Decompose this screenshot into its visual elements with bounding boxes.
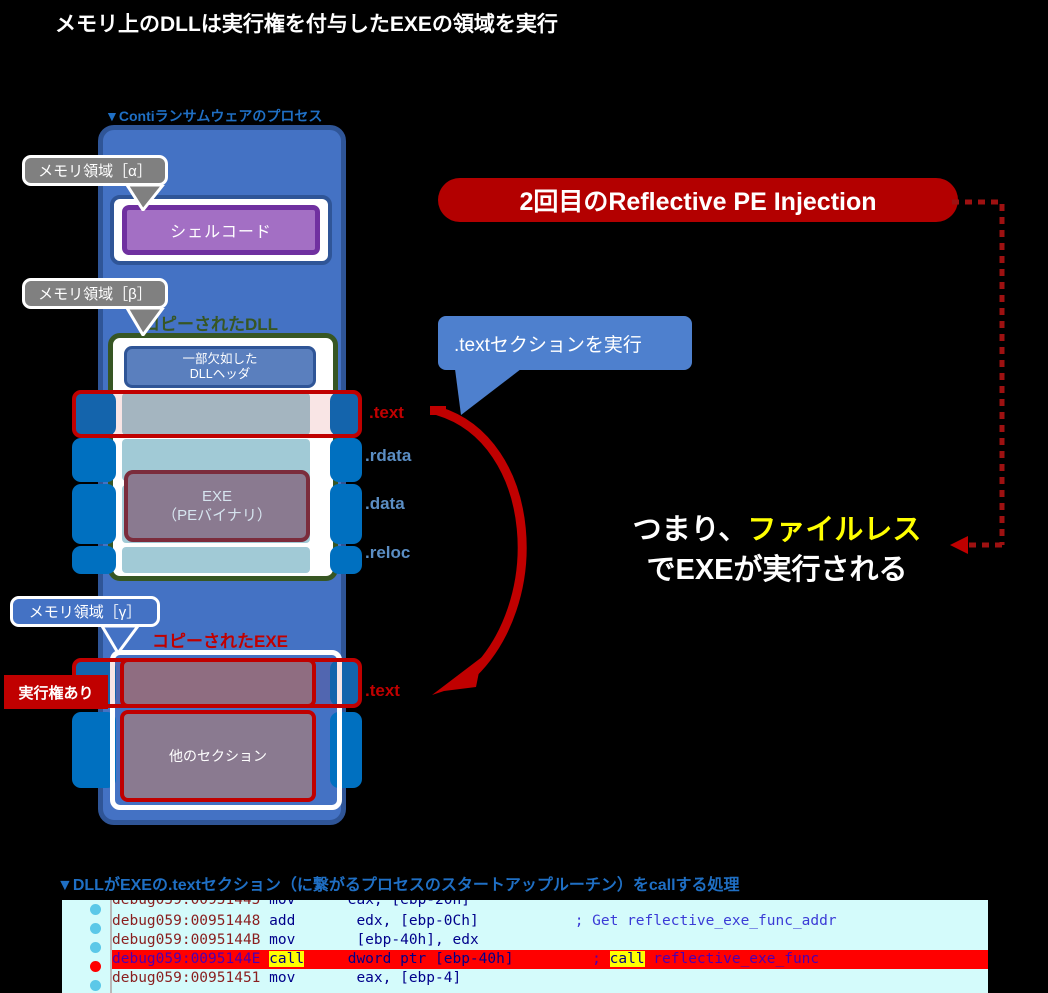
dll-section-label-rdata: .rdata bbox=[365, 446, 411, 466]
dll-section-tab-reloc-right bbox=[330, 546, 362, 574]
execution-flow-arrow bbox=[420, 395, 550, 715]
dll-header-line2: DLLヘッダ bbox=[190, 367, 250, 382]
code-comment: reflective_exe_func bbox=[645, 951, 820, 967]
conclusion-text: つまり、ファイルレス でEXEが実行される bbox=[612, 510, 942, 590]
callout-memory-beta: メモリ領域［β］ bbox=[22, 278, 168, 309]
code-operands: eax, [ebp-20h] bbox=[348, 900, 470, 908]
text-section-exec-bubble: .textセクションを実行 bbox=[438, 316, 692, 370]
shellcode-block: シェルコード bbox=[122, 205, 320, 255]
breakpoint-marker-4[interactable] bbox=[90, 980, 101, 991]
dll-section-tab-rdata-right bbox=[330, 438, 362, 482]
dll-header-line1: 一部欠如した bbox=[182, 352, 257, 367]
code-operands: dword ptr [ebp-40h] bbox=[348, 951, 514, 967]
dll-section-tab-data-left bbox=[72, 484, 116, 544]
code-mnemonic: mov bbox=[269, 932, 295, 948]
breakpoint-gutter[interactable] bbox=[62, 900, 112, 993]
process-caption: ▼Contiランサムウェアのプロセス bbox=[105, 106, 322, 126]
code-mnemonic: mov bbox=[269, 900, 295, 908]
dll-section-label-text: .text bbox=[369, 403, 404, 423]
exe-text-highlight bbox=[72, 658, 362, 708]
code-addr: debug059:00951451 bbox=[112, 970, 260, 986]
page-title: メモリ上のDLLは実行権を付与したEXEの領域を実行 bbox=[55, 8, 558, 38]
disassembly-panel[interactable]: debug059:00951445 mov eax, [ebp-20h] deb… bbox=[62, 900, 988, 993]
breakpoint-marker-1[interactable] bbox=[90, 923, 101, 934]
exec-permission-badge: 実行権あり bbox=[4, 675, 108, 709]
exe-section-label-text: .text bbox=[365, 681, 400, 701]
dll-section-tab-rdata-left bbox=[72, 438, 116, 482]
exe-pe-binary-block: EXE （PEバイナリ） bbox=[124, 470, 310, 542]
code-line[interactable]: debug059:00951445 mov eax, [ebp-20h] bbox=[112, 900, 988, 910]
code-line[interactable]: debug059:00951451 mov eax, [ebp-4] bbox=[112, 969, 988, 988]
code-comment-keyword: call bbox=[610, 951, 645, 967]
code-mnemonic: mov bbox=[269, 970, 295, 986]
dll-section-tab-data-right bbox=[330, 484, 362, 544]
dotted-flow-connector bbox=[950, 190, 1048, 570]
exe-pe-line2: （PEバイナリ） bbox=[162, 506, 272, 525]
callout-gamma-tail bbox=[100, 626, 140, 654]
code-mnemonic: call bbox=[269, 951, 304, 967]
code-line[interactable]: debug059:0095144B mov [ebp-40h], edx bbox=[112, 931, 988, 950]
conclusion-line2: でEXEが実行される bbox=[646, 554, 907, 586]
dll-text-highlight bbox=[72, 390, 362, 438]
code-operands: eax, [ebp-4] bbox=[356, 970, 461, 986]
code-addr: debug059:0095144B bbox=[112, 932, 260, 948]
code-comment: ; Get reflective_exe_func_addr bbox=[575, 913, 837, 929]
dll-section-label-reloc: .reloc bbox=[365, 543, 410, 563]
callout-memory-gamma: メモリ領域［γ］ bbox=[10, 596, 160, 627]
code-operands: [ebp-40h], edx bbox=[356, 932, 478, 948]
exe-other-section-block: 他のセクション bbox=[120, 710, 316, 802]
code-addr: debug059:00951445 bbox=[112, 900, 260, 908]
copied-exe-label: コピーされたEXE bbox=[152, 627, 288, 652]
code-mnemonic: add bbox=[269, 913, 295, 929]
breakpoint-marker-2[interactable] bbox=[90, 942, 101, 953]
dll-section-tab-reloc-left bbox=[72, 546, 116, 574]
code-addr: debug059:0095144E bbox=[112, 951, 260, 967]
code-caption: ▼DLLがEXEの.textセクション（に繋がるプロセスのスタートアップルーチン… bbox=[57, 871, 740, 895]
callout-beta-tail bbox=[125, 308, 165, 336]
breakpoint-marker-0[interactable] bbox=[90, 904, 101, 915]
code-line[interactable]: debug059:00951448 add edx, [ebp-0Ch] ; G… bbox=[112, 912, 988, 931]
conclusion-highlight: ファイルレス bbox=[747, 514, 921, 546]
code-line-selected[interactable]: debug059:0095144E call dword ptr [ebp-40… bbox=[112, 950, 988, 969]
dll-section-label-data: .data bbox=[365, 494, 405, 514]
dll-section-fill-reloc bbox=[122, 547, 310, 573]
breakpoint-marker-3[interactable] bbox=[90, 961, 101, 972]
dll-header-block: 一部欠如した DLLヘッダ bbox=[124, 346, 316, 388]
callout-memory-alpha: メモリ領域［α］ bbox=[22, 155, 168, 186]
callout-alpha-tail bbox=[125, 185, 165, 211]
exe-pe-line1: EXE bbox=[202, 487, 232, 506]
injection-banner: 2回目のReflective PE Injection bbox=[438, 178, 958, 222]
conclusion-part-a: つまり、 bbox=[633, 514, 748, 546]
code-addr: debug059:00951448 bbox=[112, 913, 260, 929]
code-operands: edx, [ebp-0Ch] bbox=[356, 913, 478, 929]
